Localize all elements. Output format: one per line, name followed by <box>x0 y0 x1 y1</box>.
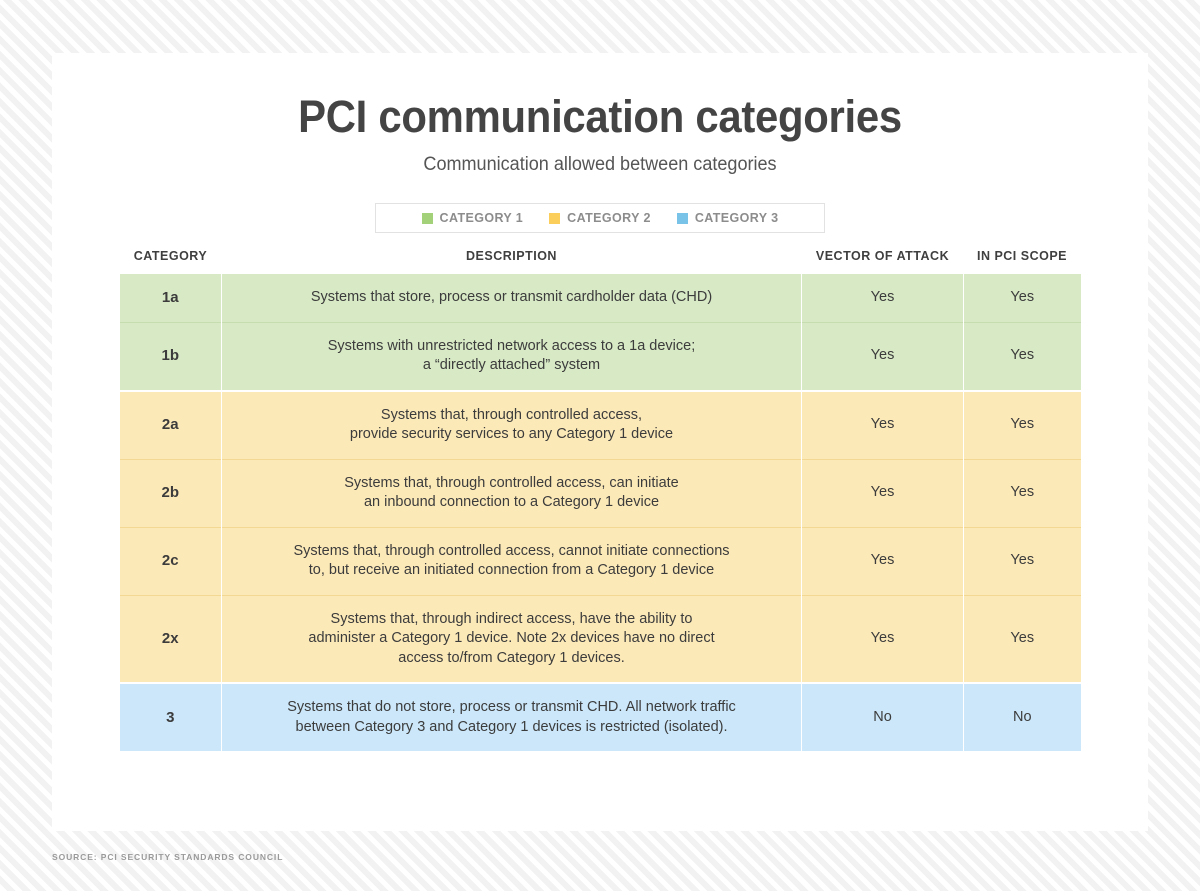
table-row: 2bSystems that, through controlled acces… <box>120 459 1081 527</box>
cell-category: 3 <box>120 684 222 751</box>
infographic-card: PCI communication categories Communicati… <box>52 53 1148 831</box>
legend-item[interactable]: CATEGORY 2 <box>549 211 651 225</box>
legend-item-label: CATEGORY 1 <box>440 211 524 225</box>
table-container: CATEGORY DESCRIPTION VECTOR OF ATTACK IN… <box>120 249 1081 751</box>
cell-description: Systems that store, process or transmit … <box>222 274 802 322</box>
table-body: 1aSystems that store, process or transmi… <box>120 274 1081 751</box>
cell-vector-of-attack: Yes <box>802 392 964 460</box>
cell-description: Systems with unrestricted network access… <box>222 322 802 390</box>
cell-category: 2b <box>120 459 222 527</box>
cell-vector-of-attack: Yes <box>802 527 964 595</box>
cell-description: Systems that, through indirect access, h… <box>222 595 802 682</box>
cell-description: Systems that, through controlled access,… <box>222 527 802 595</box>
cell-category: 2x <box>120 595 222 682</box>
categories-table: CATEGORY DESCRIPTION VECTOR OF ATTACK IN… <box>120 249 1081 751</box>
table-row: 2xSystems that, through indirect access,… <box>120 595 1081 682</box>
column-header-description: DESCRIPTION <box>222 249 802 274</box>
column-header-category: CATEGORY <box>120 249 222 274</box>
column-header-vector-of-attack: VECTOR OF ATTACK <box>802 249 964 274</box>
legend: CATEGORY 1CATEGORY 2CATEGORY 3 <box>375 203 826 233</box>
cell-vector-of-attack: No <box>802 684 964 751</box>
legend-swatch-icon <box>549 213 560 224</box>
table-row: 1aSystems that store, process or transmi… <box>120 274 1081 322</box>
table-row: 3Systems that do not store, process or t… <box>120 684 1081 751</box>
legend-item[interactable]: CATEGORY 3 <box>677 211 779 225</box>
cell-description: Systems that, through controlled access,… <box>222 392 802 460</box>
table-row: 1bSystems with unrestricted network acce… <box>120 322 1081 390</box>
cell-category: 1a <box>120 274 222 322</box>
cell-in-pci-scope: Yes <box>964 322 1081 390</box>
page-title: PCI communication categories <box>90 91 1109 143</box>
table-row: 2cSystems that, through controlled acces… <box>120 527 1081 595</box>
cell-category: 2a <box>120 392 222 460</box>
cell-description: Systems that, through controlled access,… <box>222 459 802 527</box>
cell-description: Systems that do not store, process or tr… <box>222 684 802 751</box>
cell-in-pci-scope: No <box>964 684 1081 751</box>
cell-in-pci-scope: Yes <box>964 392 1081 460</box>
cell-vector-of-attack: Yes <box>802 459 964 527</box>
source-note: SOURCE: PCI SECURITY STANDARDS COUNCIL <box>52 852 283 862</box>
table-row: 2aSystems that, through controlled acces… <box>120 392 1081 460</box>
cell-vector-of-attack: Yes <box>802 595 964 682</box>
column-header-in-pci-scope: IN PCI SCOPE <box>964 249 1081 274</box>
cell-in-pci-scope: Yes <box>964 595 1081 682</box>
cell-vector-of-attack: Yes <box>802 322 964 390</box>
table-header: CATEGORY DESCRIPTION VECTOR OF ATTACK IN… <box>120 249 1081 274</box>
legend-swatch-icon <box>677 213 688 224</box>
cell-in-pci-scope: Yes <box>964 527 1081 595</box>
table-header-row: CATEGORY DESCRIPTION VECTOR OF ATTACK IN… <box>120 249 1081 274</box>
cell-category: 1b <box>120 322 222 390</box>
legend-item-label: CATEGORY 3 <box>695 211 779 225</box>
legend-container: CATEGORY 1CATEGORY 2CATEGORY 3 <box>52 203 1148 233</box>
legend-item-label: CATEGORY 2 <box>567 211 651 225</box>
legend-item[interactable]: CATEGORY 1 <box>422 211 524 225</box>
cell-in-pci-scope: Yes <box>964 274 1081 322</box>
cell-category: 2c <box>120 527 222 595</box>
page-subtitle: Communication allowed between categories <box>79 154 1120 176</box>
cell-vector-of-attack: Yes <box>802 274 964 322</box>
legend-swatch-icon <box>422 213 433 224</box>
cell-in-pci-scope: Yes <box>964 459 1081 527</box>
